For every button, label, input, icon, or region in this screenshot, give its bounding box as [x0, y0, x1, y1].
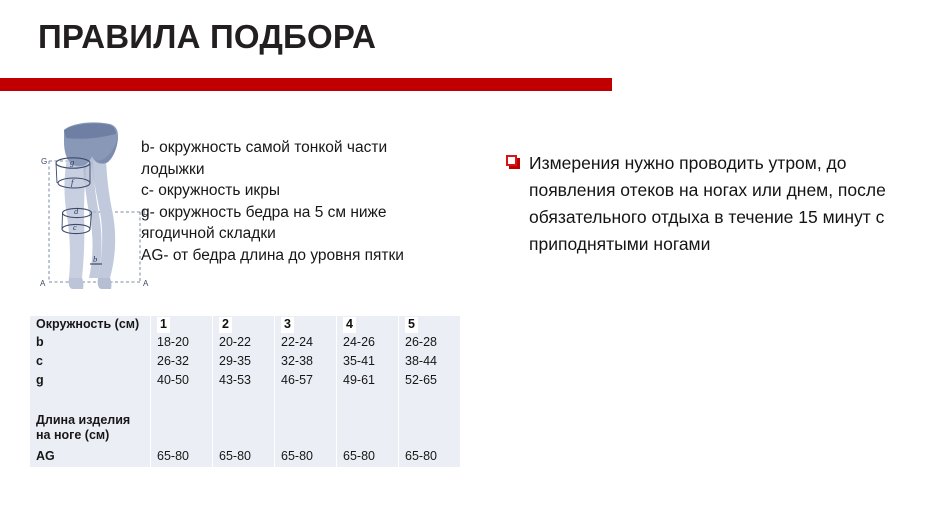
section-label: Длина изделия на ноге (см) [30, 412, 151, 448]
cell-ag-5: 65-80 [399, 448, 461, 467]
legend-line-5: ягодичной складки [141, 223, 441, 245]
row-label-ag: AG [30, 448, 151, 467]
legend-line-4: g- окружность бедра на 5 см ниже [141, 202, 441, 224]
diagram-label-G: G [41, 157, 47, 166]
cell-ag-4: 65-80 [337, 448, 399, 467]
cell-b-5: 26-28 [399, 334, 461, 353]
cell-ag-2: 65-80 [213, 448, 275, 467]
cell-g-4: 49-61 [337, 372, 399, 391]
cell-c-3: 32-38 [275, 353, 337, 372]
diagram-label-A-left: A [40, 279, 46, 288]
size-badge-3: 3 [281, 317, 294, 333]
section-cell-1 [151, 412, 213, 448]
cell-g-2: 43-53 [213, 372, 275, 391]
title-accent-rule [0, 78, 612, 91]
cell-ag-1: 65-80 [151, 448, 213, 467]
table-section-row: Длина изделия на ноге (см) [30, 412, 460, 448]
legend-line-3: c- окружность икры [141, 180, 441, 202]
table-header-size-4: 4 [337, 316, 399, 334]
row-label-c: c [30, 353, 151, 372]
cell-ag-3: 65-80 [275, 448, 337, 467]
table-spacer-row [30, 391, 460, 412]
diagram-label-A-right: A [143, 279, 149, 288]
cell-g-5: 52-65 [399, 372, 461, 391]
table-header-size-5: 5 [399, 316, 461, 334]
spacer-cell-5 [399, 391, 461, 412]
measurement-legend: b- окружность самой тонкой части лодыжки… [141, 137, 441, 266]
page-title: ПРАВИЛА ПОДБОРА [38, 18, 376, 56]
table-row: c 26-32 29-35 32-38 35-41 38-44 [30, 353, 460, 372]
cell-b-2: 20-22 [213, 334, 275, 353]
leg-measurement-diagram: g f d c b G D A A [38, 112, 153, 294]
cell-c-5: 38-44 [399, 353, 461, 372]
section-cell-4 [337, 412, 399, 448]
cell-g-1: 40-50 [151, 372, 213, 391]
section-label-line-1: Длина изделия [36, 413, 130, 427]
table-header-row: Окружность (см) 1 2 3 4 5 [30, 316, 460, 334]
size-badge-4: 4 [343, 317, 356, 333]
cell-b-3: 22-24 [275, 334, 337, 353]
cell-b-4: 24-26 [337, 334, 399, 353]
size-badge-2: 2 [219, 317, 232, 333]
table-header-size-1: 1 [151, 316, 213, 334]
size-badge-1: 1 [157, 317, 170, 333]
spacer-cell-1 [151, 391, 213, 412]
legend-line-6: AG- от бедра длина до уровня пятки [141, 245, 441, 267]
red-square-bullet-icon [506, 155, 520, 169]
size-badge-5: 5 [405, 317, 418, 333]
section-cell-2 [213, 412, 275, 448]
ring-label-c: c [73, 222, 77, 232]
ring-label-g: g [70, 157, 74, 167]
section-label-line-2: на ноге (см) [36, 428, 109, 442]
table-row: AG 65-80 65-80 65-80 65-80 65-80 [30, 448, 460, 467]
slide-canvas: ПРАВИЛА ПОДБОРА [0, 0, 928, 505]
legend-line-1: b- окружность самой тонкой части [141, 137, 441, 159]
table-header-size-2: 2 [213, 316, 275, 334]
spacer-cell-4 [337, 391, 399, 412]
cell-c-2: 29-35 [213, 353, 275, 372]
table-header-size-3: 3 [275, 316, 337, 334]
legend-line-2: лодыжки [141, 159, 441, 181]
ring-label-b: b [93, 254, 97, 264]
section-cell-3 [275, 412, 337, 448]
spacer-cell-3 [275, 391, 337, 412]
cell-g-3: 46-57 [275, 372, 337, 391]
spacer-label [30, 391, 151, 412]
note-bullet-block: Измерения нужно проводить утром, до появ… [506, 150, 906, 258]
cell-c-1: 26-32 [151, 353, 213, 372]
spacer-cell-2 [213, 391, 275, 412]
cell-b-1: 18-20 [151, 334, 213, 353]
row-label-g: g [30, 372, 151, 391]
table-header-label: Окружность (см) [30, 316, 151, 334]
table-row: b 18-20 20-22 22-24 24-26 26-28 [30, 334, 460, 353]
size-chart-table: Окружность (см) 1 2 3 4 5 b 18-20 20-22 … [30, 316, 460, 467]
cell-c-4: 35-41 [337, 353, 399, 372]
section-cell-5 [399, 412, 461, 448]
note-text: Измерения нужно проводить утром, до появ… [529, 150, 906, 258]
table-row: g 40-50 43-53 46-57 49-61 52-65 [30, 372, 460, 391]
row-label-b: b [30, 334, 151, 353]
